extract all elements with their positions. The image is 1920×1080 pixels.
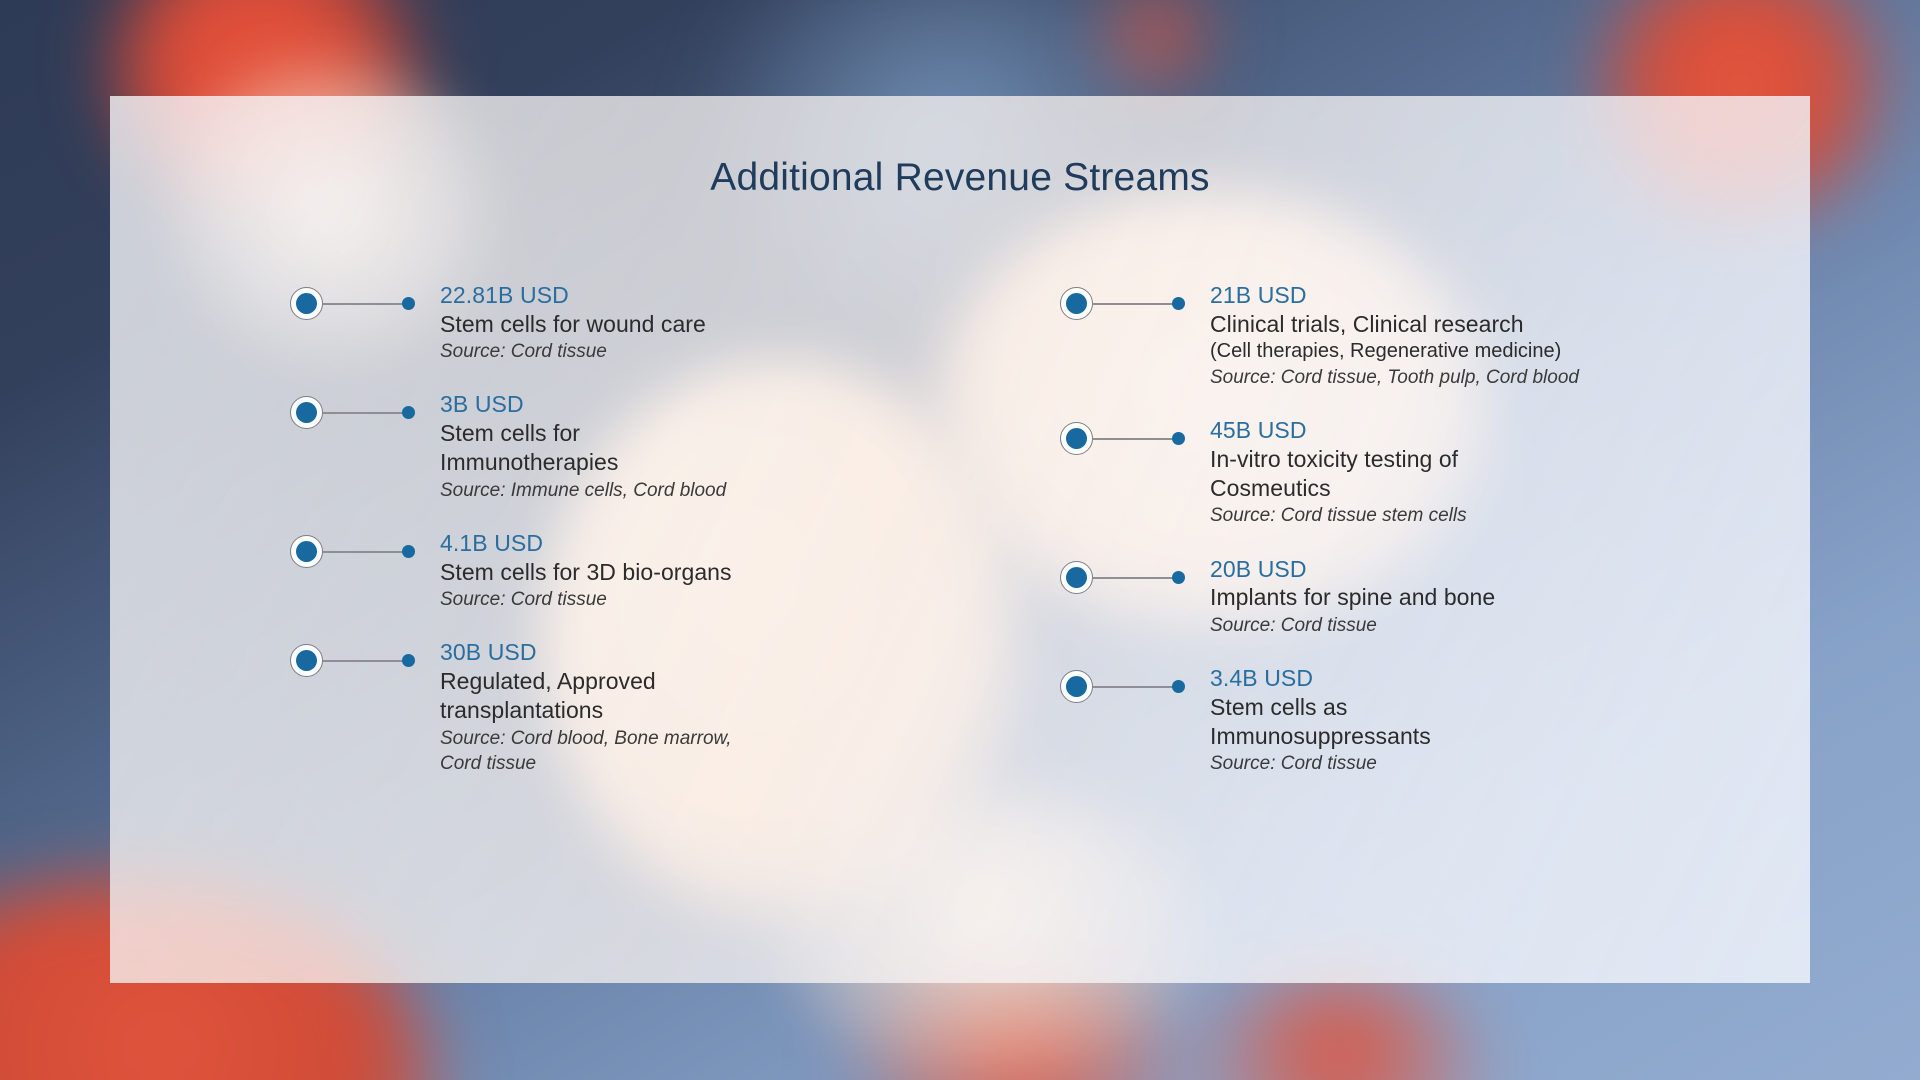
list-item[interactable]: 3.4B USD Stem cells as Immunosuppressant… (1060, 664, 1750, 777)
marker-ring-icon (1060, 561, 1093, 594)
item-label: Regulated, Approved transplantations (440, 667, 770, 726)
bullet-marker-icon (1060, 422, 1210, 456)
bullet-marker-icon (290, 287, 440, 321)
item-label: Stem cells as Immunosuppressants (1210, 693, 1480, 752)
bullet-marker-icon (290, 535, 440, 569)
item-value: 21B USD (1210, 281, 1750, 310)
item-source: Source: Cord tissue (440, 587, 930, 612)
list-item-body: 30B USD Regulated, Approved transplantat… (440, 638, 770, 776)
list-item-body: 3.4B USD Stem cells as Immunosuppressant… (1210, 664, 1480, 777)
marker-end-dot-icon (402, 297, 415, 310)
right-column: 21B USD Clinical trials, Clinical resear… (1060, 281, 1750, 777)
item-label: Stem cells for wound care (440, 310, 930, 339)
list-item-body: 4.1B USD Stem cells for 3D bio-organs So… (440, 529, 930, 612)
item-value: 22.81B USD (440, 281, 930, 310)
list-item-body: 22.81B USD Stem cells for wound care Sou… (440, 281, 930, 364)
list-item[interactable]: 21B USD Clinical trials, Clinical resear… (1060, 281, 1750, 390)
bullet-marker-icon (1060, 287, 1210, 321)
marker-end-dot-icon (402, 545, 415, 558)
marker-core-icon (296, 650, 317, 671)
background-blob-red-bottomright (1180, 970, 1500, 1080)
marker-ring-icon (1060, 287, 1093, 320)
list-item[interactable]: 4.1B USD Stem cells for 3D bio-organs So… (290, 529, 930, 612)
item-source: Source: Cord tissue (1210, 613, 1750, 638)
marker-core-icon (1066, 567, 1087, 588)
item-label: Clinical trials, Clinical research (1210, 310, 1750, 339)
marker-ring-icon (290, 644, 323, 677)
bullet-marker-icon (1060, 561, 1210, 595)
left-column: 22.81B USD Stem cells for wound care Sou… (290, 281, 930, 776)
item-label: Implants for spine and bone (1210, 583, 1750, 612)
marker-core-icon (296, 541, 317, 562)
marker-ring-icon (290, 287, 323, 320)
marker-ring-icon (1060, 422, 1093, 455)
marker-end-dot-icon (402, 406, 415, 419)
marker-connector-line (1093, 303, 1178, 305)
item-value: 20B USD (1210, 555, 1750, 584)
item-source: Source: Immune cells, Cord blood (440, 478, 740, 503)
bullet-marker-icon (290, 644, 440, 678)
marker-end-dot-icon (1172, 297, 1185, 310)
marker-connector-line (323, 660, 408, 662)
item-value: 45B USD (1210, 416, 1540, 445)
list-item-body: 20B USD Implants for spine and bone Sour… (1210, 555, 1750, 638)
list-item-body: 45B USD In-vitro toxicity testing of Cos… (1210, 416, 1540, 529)
item-source: Source: Cord blood, Bone marrow, Cord ti… (440, 726, 770, 776)
marker-core-icon (1066, 428, 1087, 449)
marker-end-dot-icon (402, 654, 415, 667)
marker-core-icon (296, 293, 317, 314)
item-label: Stem cells for 3D bio-organs (440, 558, 930, 587)
item-label: Stem cells for Immunotherapies (440, 419, 740, 478)
marker-connector-line (1093, 438, 1178, 440)
item-sublabel: (Cell therapies, Regenerative medicine) (1210, 339, 1750, 365)
item-source: Source: Cord tissue stem cells (1210, 503, 1540, 528)
list-item[interactable]: 3B USD Stem cells for Immunotherapies So… (290, 390, 930, 503)
item-source: Source: Cord tissue, Tooth pulp, Cord bl… (1210, 365, 1750, 390)
marker-connector-line (323, 551, 408, 553)
list-item-body: 21B USD Clinical trials, Clinical resear… (1210, 281, 1750, 390)
item-value: 3.4B USD (1210, 664, 1480, 693)
columns-wrapper: 22.81B USD Stem cells for wound care Sou… (110, 96, 1810, 983)
marker-core-icon (1066, 676, 1087, 697)
list-item[interactable]: 22.81B USD Stem cells for wound care Sou… (290, 281, 930, 364)
marker-core-icon (1066, 293, 1087, 314)
marker-end-dot-icon (1172, 571, 1185, 584)
list-item[interactable]: 45B USD In-vitro toxicity testing of Cos… (1060, 416, 1750, 529)
list-item[interactable]: 30B USD Regulated, Approved transplantat… (290, 638, 930, 776)
item-value: 3B USD (440, 390, 740, 419)
marker-connector-line (1093, 686, 1178, 688)
marker-connector-line (323, 303, 408, 305)
item-value: 4.1B USD (440, 529, 930, 558)
marker-ring-icon (290, 535, 323, 568)
content-panel: Additional Revenue Streams 22.81B USD St… (110, 96, 1810, 983)
marker-end-dot-icon (1172, 432, 1185, 445)
marker-ring-icon (290, 396, 323, 429)
item-source: Source: Cord tissue (1210, 751, 1480, 776)
bullet-marker-icon (290, 396, 440, 430)
item-value: 30B USD (440, 638, 770, 667)
marker-core-icon (296, 402, 317, 423)
marker-ring-icon (1060, 670, 1093, 703)
bullet-marker-icon (1060, 670, 1210, 704)
list-item[interactable]: 20B USD Implants for spine and bone Sour… (1060, 555, 1750, 638)
slide-canvas: Additional Revenue Streams 22.81B USD St… (0, 0, 1920, 1080)
list-item-body: 3B USD Stem cells for Immunotherapies So… (440, 390, 740, 503)
marker-end-dot-icon (1172, 680, 1185, 693)
item-label: In-vitro toxicity testing of Cosmeutics (1210, 445, 1540, 504)
marker-connector-line (323, 412, 408, 414)
item-source: Source: Cord tissue (440, 339, 930, 364)
marker-connector-line (1093, 577, 1178, 579)
